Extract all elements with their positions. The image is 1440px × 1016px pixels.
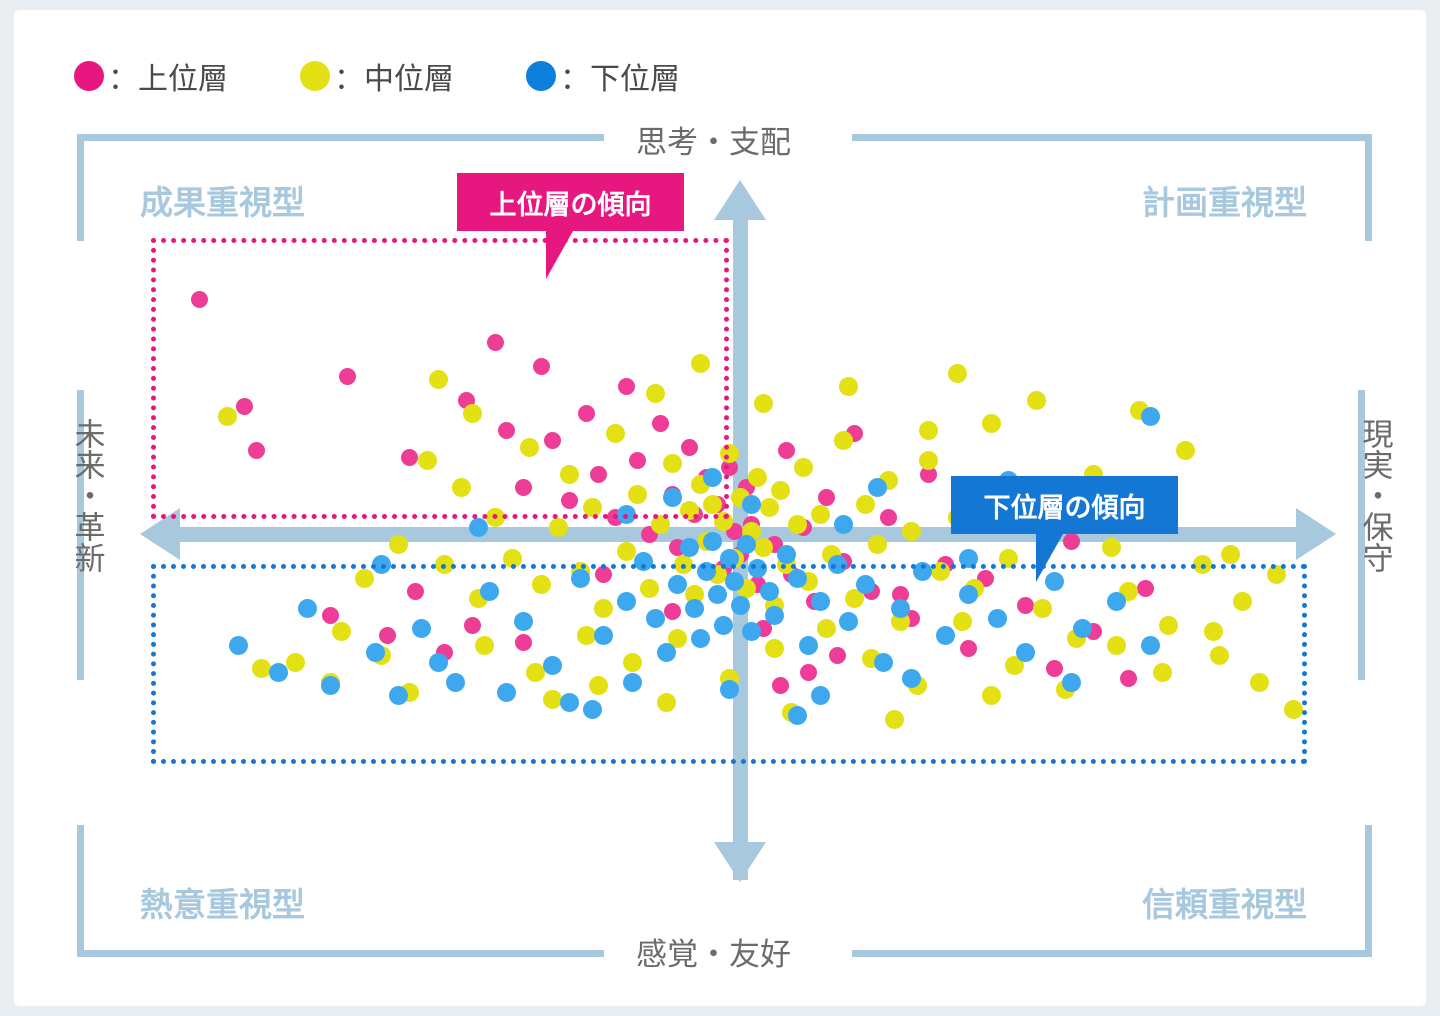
legend-dot-blue-icon — [526, 61, 556, 91]
scatter-point — [748, 468, 767, 487]
callout-tail-blue-icon — [1036, 534, 1063, 582]
scatter-point — [948, 364, 967, 383]
axis-caption-left: 未来・革新 — [70, 418, 103, 573]
scatter-point — [880, 509, 897, 526]
scatter-point — [761, 499, 778, 516]
scatter-point — [818, 489, 835, 506]
axis-caption-bottom: 感覚・友好 — [636, 929, 791, 974]
legend-label-middle-tier: ：中位層 — [334, 54, 454, 98]
quadrant-label-top-right: 計画重視型 — [1142, 176, 1307, 224]
callout-lower-tier-trend: 下位層の傾向 — [951, 476, 1178, 534]
scatter-point — [1221, 545, 1240, 564]
scatter-point — [919, 451, 938, 470]
callout-lower-tier-label: 下位層の傾向 — [984, 486, 1146, 525]
legend-item-upper-tier: ：上位層 — [74, 54, 228, 98]
scatter-point — [839, 377, 858, 396]
scatter-point — [856, 495, 875, 514]
callout-upper-tier-label: 上位層の傾向 — [490, 183, 652, 222]
axis-arrow-down-icon — [714, 842, 766, 882]
vertical-axis — [733, 215, 748, 880]
scatter-point — [846, 425, 863, 442]
legend-dot-yellow-icon — [300, 61, 330, 91]
quadrant-label-top-left: 成果重視型 — [140, 176, 305, 224]
axis-arrow-right-icon — [1296, 508, 1336, 560]
chart-page: ：上位層 ：中位層 ：下位層 思考・支配 感覚・友好 未来・革新 現実・保守 成… — [0, 0, 1440, 1016]
scatter-point — [754, 394, 773, 413]
legend: ：上位層 ：中位層 ：下位層 — [74, 50, 752, 102]
legend-item-lower-tier: ：下位層 — [526, 54, 680, 98]
scatter-point — [778, 442, 795, 459]
scatter-point — [771, 481, 790, 500]
callout-tail-pink-icon — [546, 231, 573, 279]
scatter-point — [1027, 391, 1046, 410]
axis-arrow-up-icon — [714, 180, 766, 220]
scatter-point — [811, 505, 830, 524]
axis-caption-top: 思考・支配 — [636, 117, 791, 162]
scatter-point — [868, 478, 887, 497]
scatter-point — [1141, 407, 1160, 426]
scatter-point — [982, 414, 1001, 433]
legend-item-middle-tier: ：中位層 — [300, 54, 454, 98]
scatter-point — [879, 471, 898, 490]
quadrant-label-bottom-right: 信頼重視型 — [1142, 878, 1307, 926]
scatter-point — [617, 542, 636, 561]
upper-tier-trend-box — [151, 238, 729, 519]
scatter-point — [920, 466, 937, 483]
callout-upper-tier-trend: 上位層の傾向 — [457, 173, 684, 231]
legend-label-lower-tier: ：下位層 — [560, 54, 680, 98]
scatter-point — [834, 431, 853, 450]
scatter-point — [822, 545, 841, 564]
scatter-point — [1176, 441, 1195, 460]
legend-label-upper-tier: ：上位層 — [108, 54, 228, 98]
scatter-point — [760, 498, 779, 517]
lower-tier-trend-box — [151, 564, 1307, 764]
chart-card: ：上位層 ：中位層 ：下位層 思考・支配 感覚・友好 未来・革新 現実・保守 成… — [14, 10, 1426, 1006]
legend-dot-pink-icon — [74, 61, 104, 91]
scatter-point — [919, 421, 938, 440]
axis-caption-right: 現実・保守 — [1358, 418, 1391, 573]
scatter-point — [794, 458, 813, 477]
scatter-point — [777, 545, 796, 564]
scatter-point — [1130, 401, 1149, 420]
quadrant-label-bottom-left: 熱意重視型 — [140, 878, 305, 926]
